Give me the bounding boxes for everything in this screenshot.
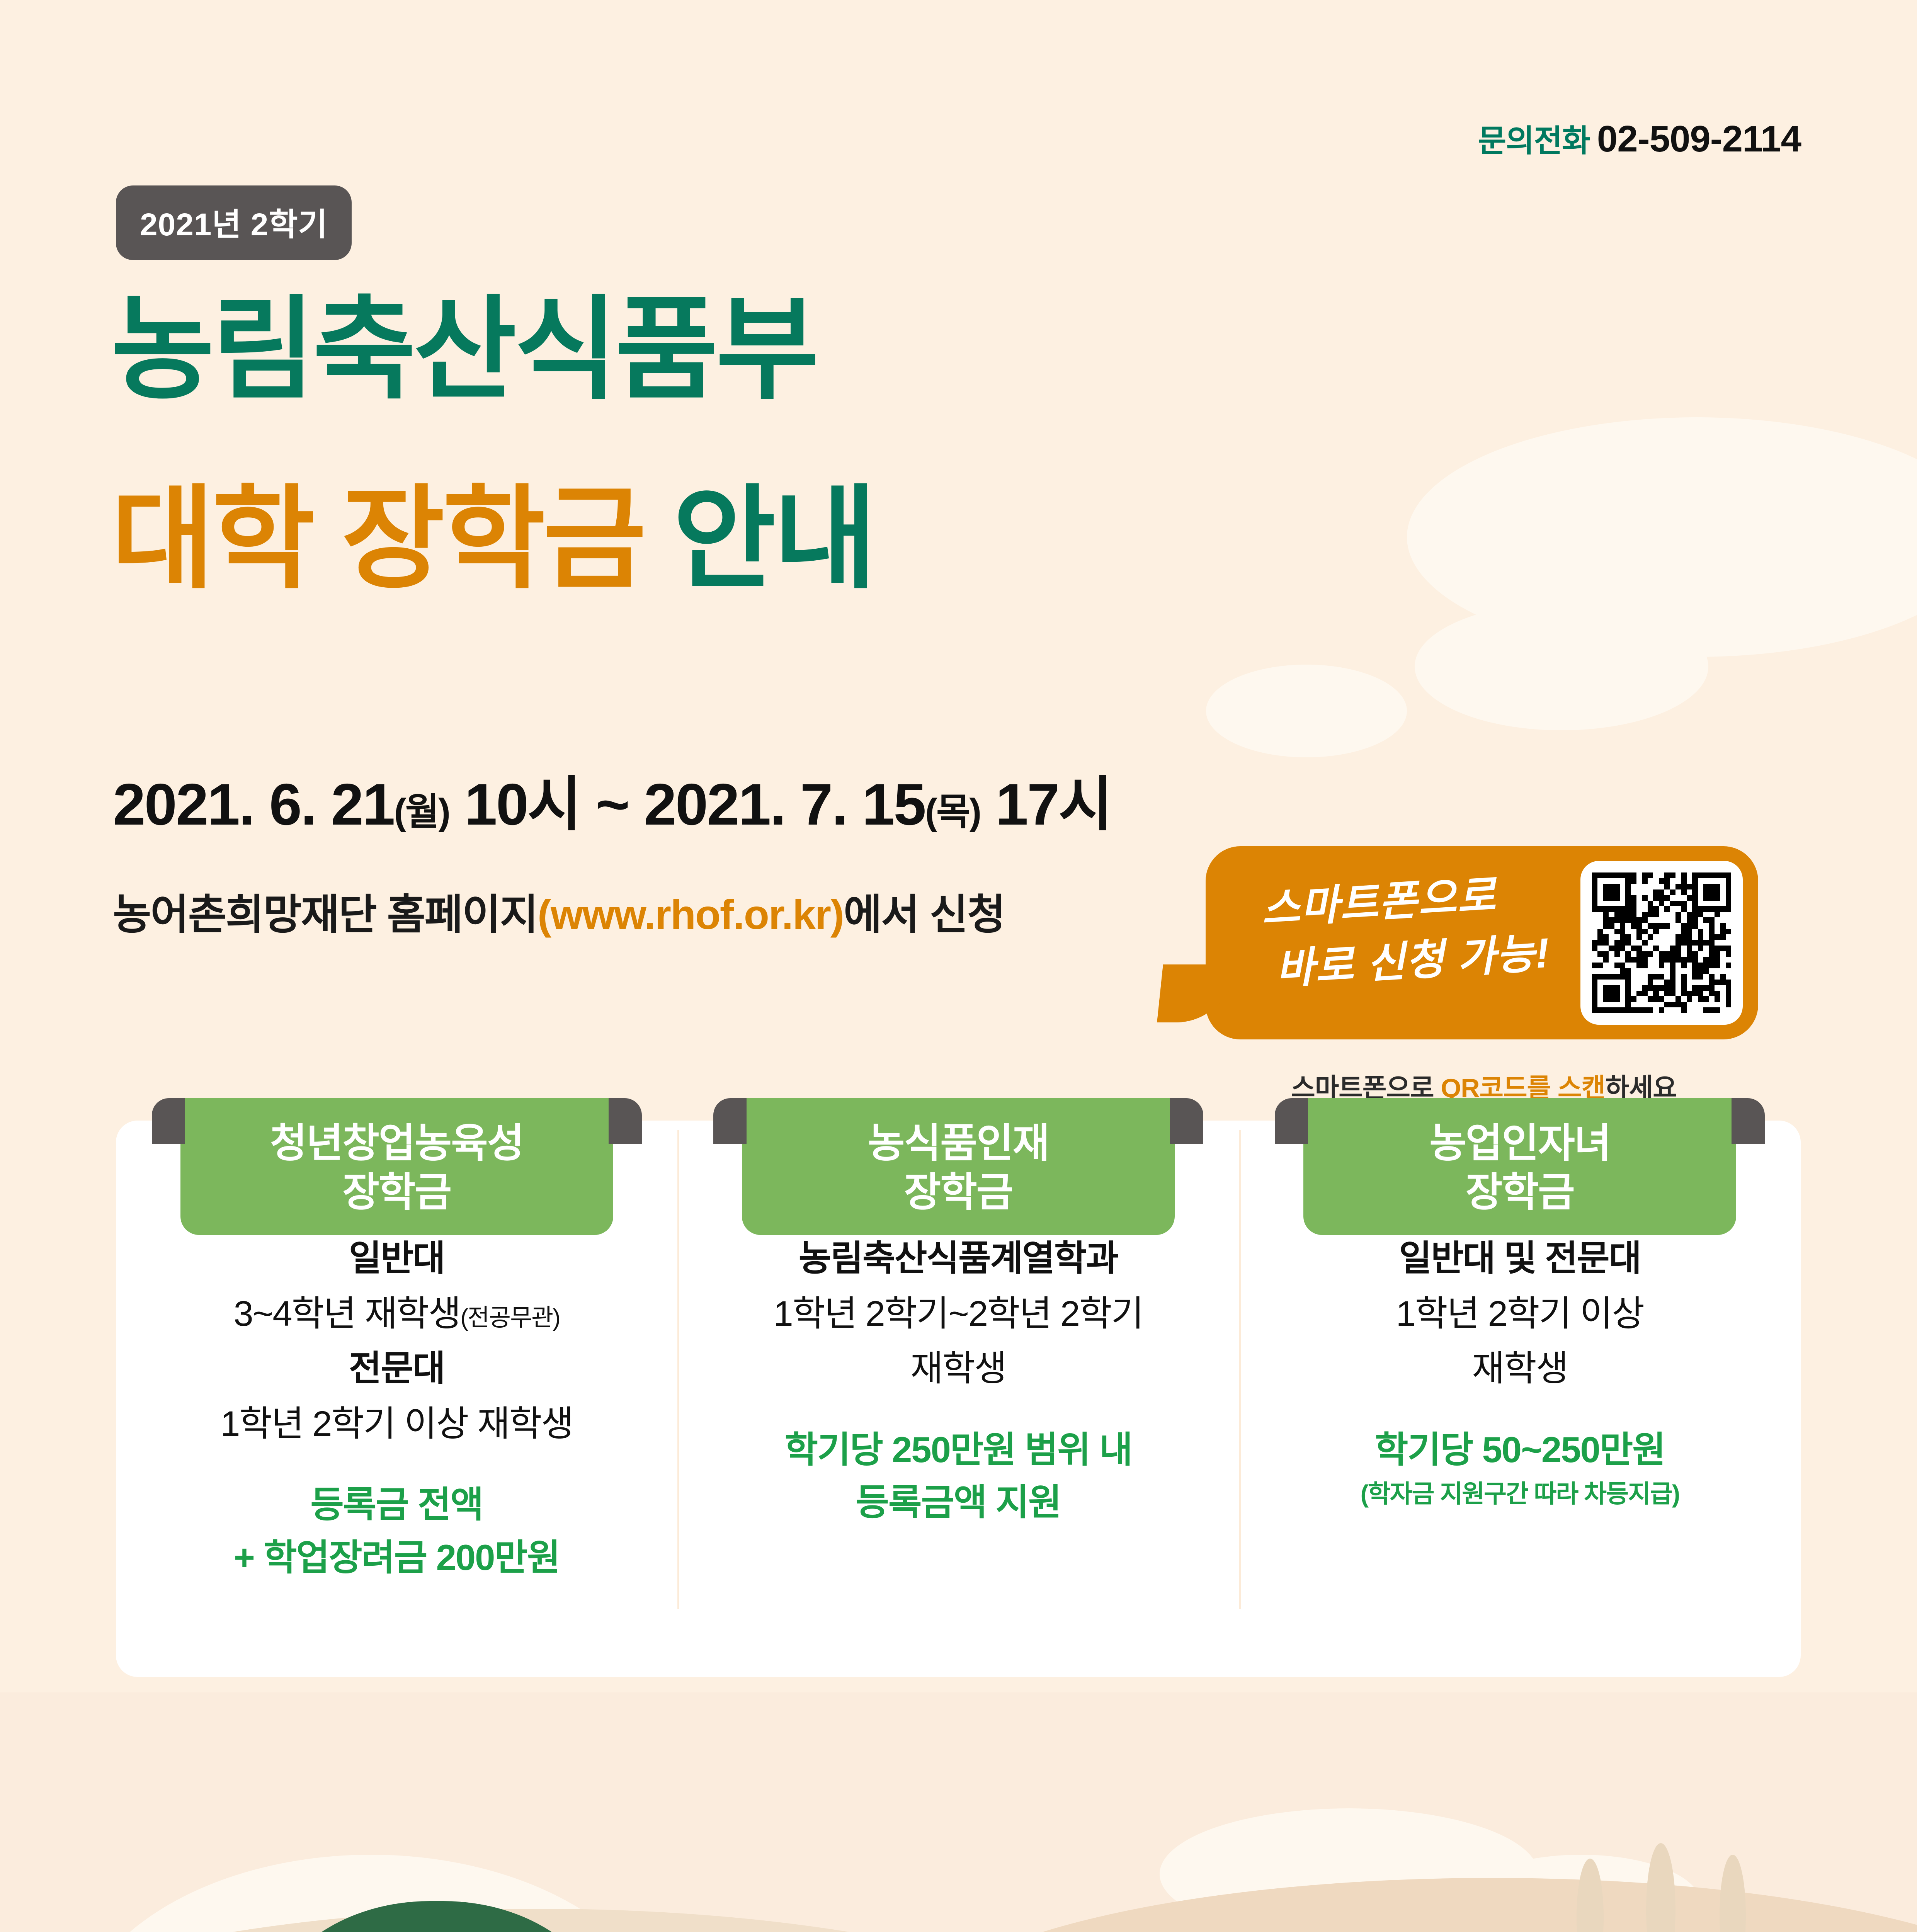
- qr-cell: [1715, 878, 1720, 884]
- qr-cell: [1681, 934, 1686, 940]
- qr-cell: [1653, 957, 1658, 963]
- qr-cell: [1675, 996, 1681, 1002]
- qr-cell: [1726, 946, 1731, 951]
- qr-cell: [1675, 901, 1681, 906]
- qr-cell: [1715, 895, 1720, 901]
- qr-cell: [1687, 1002, 1692, 1008]
- scholarship-card-panel: 청년창업농육성장학금일반대3~4학년 재학생(전공무관)전문대1학년 2학기 이…: [116, 1121, 1801, 1677]
- qr-cell: [1592, 889, 1597, 895]
- qr-cell: [1631, 996, 1636, 1002]
- qr-cell: [1625, 884, 1631, 889]
- qr-cell: [1670, 996, 1675, 1002]
- qr-cell: [1681, 957, 1686, 963]
- qr-cell: [1625, 872, 1631, 878]
- qr-cell: [1720, 980, 1725, 985]
- qr-cell: [1692, 940, 1698, 946]
- qr-cell: [1692, 901, 1698, 906]
- qr-cell: [1659, 929, 1664, 935]
- qr-cell: [1631, 940, 1636, 946]
- qr-cell: [1636, 951, 1642, 957]
- qr-cell: [1636, 974, 1642, 980]
- page-title-line1: 농림축산식품부: [111, 294, 817, 406]
- qr-cell: [1609, 934, 1614, 940]
- qr-cell: [1715, 923, 1720, 929]
- qr-cell: [1592, 951, 1597, 957]
- qr-cell: [1597, 940, 1603, 946]
- scholarship-amount: 학기당 50~250만원(학자금 지원구간 따라 차등지급): [1239, 1423, 1801, 1512]
- qr-cell: [1631, 884, 1636, 889]
- qr-cell: [1614, 974, 1620, 980]
- qr-cell: [1715, 996, 1720, 1002]
- qr-cell: [1670, 980, 1675, 985]
- qr-cell: [1614, 946, 1620, 951]
- site-url[interactable]: (www.rhof.or.kr): [538, 891, 844, 938]
- qr-cell: [1653, 951, 1658, 957]
- qr-cell: [1603, 957, 1609, 963]
- qr-cell: [1687, 929, 1692, 935]
- qr-cell: [1687, 951, 1692, 957]
- qr-cell: [1631, 901, 1636, 906]
- qr-cell: [1715, 991, 1720, 997]
- qr-cell: [1620, 917, 1625, 923]
- qr-cell: [1625, 946, 1631, 951]
- qr-cell: [1659, 889, 1664, 895]
- qr-cell: [1709, 872, 1714, 878]
- ribbon-tab-right: [1732, 1098, 1765, 1144]
- qr-cell: [1620, 985, 1625, 991]
- qr-cell: [1625, 912, 1631, 918]
- qr-cell: [1642, 985, 1648, 991]
- qr-cell: [1648, 957, 1653, 963]
- cloud-decoration: [1206, 665, 1407, 757]
- qr-cell: [1642, 946, 1648, 951]
- qr-cell: [1664, 895, 1670, 901]
- qr-cell: [1642, 951, 1648, 957]
- qr-cell: [1653, 974, 1658, 980]
- qr-cell: [1614, 1002, 1620, 1008]
- qr-cell: [1726, 884, 1731, 889]
- qr-cell: [1603, 951, 1609, 957]
- qr-cell: [1720, 991, 1725, 997]
- qr-cell: [1726, 951, 1731, 957]
- qr-cell: [1648, 884, 1653, 889]
- qr-cell: [1698, 980, 1703, 985]
- qr-cell: [1603, 872, 1609, 878]
- amount-line1: 학기당 50~250만원: [1239, 1423, 1801, 1476]
- qr-cell: [1648, 980, 1653, 985]
- qr-cell: [1698, 991, 1703, 997]
- eligibility-text: 농림축산식품계열학과: [799, 1239, 1118, 1278]
- qr-cell: [1720, 923, 1725, 929]
- qr-cell: [1703, 985, 1709, 991]
- qr-cell: [1597, 884, 1603, 889]
- qr-cell: [1715, 906, 1720, 912]
- qr-cell: [1659, 895, 1664, 901]
- qr-cell: [1603, 901, 1609, 906]
- qr-cell: [1698, 996, 1703, 1002]
- qr-cell: [1648, 878, 1653, 884]
- qr-cell: [1592, 901, 1597, 906]
- qr-cell: [1597, 1002, 1603, 1008]
- qr-cell: [1631, 895, 1636, 901]
- qr-cell: [1709, 934, 1714, 940]
- qr-cell: [1715, 917, 1720, 923]
- qr-cell: [1648, 872, 1653, 878]
- qr-cell: [1653, 872, 1658, 878]
- qr-cell: [1726, 974, 1731, 980]
- qr-cell: [1681, 878, 1686, 884]
- qr-cell: [1659, 963, 1664, 968]
- qr-cell: [1592, 884, 1597, 889]
- qr-cell: [1592, 934, 1597, 940]
- qr-cell: [1659, 1007, 1664, 1013]
- qr-cell: [1720, 957, 1725, 963]
- qr-cell: [1653, 901, 1658, 906]
- qr-cell: [1664, 889, 1670, 895]
- qr-cell: [1636, 991, 1642, 997]
- qr-cell: [1659, 957, 1664, 963]
- qr-cell: [1597, 895, 1603, 901]
- qr-cell: [1670, 889, 1675, 895]
- qr-cell: [1703, 1002, 1709, 1008]
- qr-cell: [1670, 917, 1675, 923]
- qr-cell: [1603, 946, 1609, 951]
- qr-cell: [1709, 957, 1714, 963]
- ribbon-tab-right: [609, 1098, 642, 1144]
- qr-cell: [1592, 980, 1597, 985]
- qr-cell: [1620, 957, 1625, 963]
- qr-cell: [1597, 985, 1603, 991]
- qr-cell: [1715, 934, 1720, 940]
- qr-cell: [1692, 889, 1698, 895]
- qr-cell: [1642, 934, 1648, 940]
- qr-cell: [1664, 980, 1670, 985]
- qr-cell: [1720, 940, 1725, 946]
- qr-cell: [1597, 889, 1603, 895]
- qr-cell: [1659, 901, 1664, 906]
- qr-cell: [1659, 968, 1664, 974]
- qr-cell: [1709, 1007, 1714, 1013]
- qr-cell: [1715, 985, 1720, 991]
- qr-cell: [1692, 878, 1698, 884]
- eligibility-line: 일반대: [116, 1231, 677, 1286]
- scholarship-title-ribbon: 농업인자녀장학금: [1303, 1098, 1736, 1235]
- qr-cell: [1636, 878, 1642, 884]
- qr-cell: [1675, 974, 1681, 980]
- qr-cell: [1681, 884, 1686, 889]
- qr-cell: [1620, 895, 1625, 901]
- qr-cell: [1681, 974, 1686, 980]
- qr-cell: [1675, 940, 1681, 946]
- qr-cell: [1620, 929, 1625, 935]
- qr-cell: [1720, 968, 1725, 974]
- application-period: 2021. 6. 21(월) 10시 ~ 2021. 7. 15(목) 17시: [113, 757, 1111, 842]
- qr-cell: [1715, 872, 1720, 878]
- qr-cell: [1636, 934, 1642, 940]
- qr-cell: [1720, 884, 1725, 889]
- qr-cell: [1687, 946, 1692, 951]
- qr-cell: [1603, 991, 1609, 997]
- qr-cell: [1692, 985, 1698, 991]
- qr-cell: [1631, 906, 1636, 912]
- scholarship-title-line1: 농식품인재: [742, 1119, 1175, 1168]
- qr-cell: [1726, 963, 1731, 968]
- qr-cell: [1675, 957, 1681, 963]
- eligibility-text: 3~4학년 재학생: [234, 1294, 461, 1333]
- qr-cell: [1636, 963, 1642, 968]
- qr-cell: [1698, 901, 1703, 906]
- qr-cell: [1609, 968, 1614, 974]
- qr-cell: [1720, 974, 1725, 980]
- qr-cell: [1603, 895, 1609, 901]
- qr-cell: [1609, 923, 1614, 929]
- scholarship-columns: 청년창업농육성장학금일반대3~4학년 재학생(전공무관)전문대1학년 2학기 이…: [116, 1121, 1801, 1677]
- qr-cell: [1703, 968, 1709, 974]
- qr-cell: [1614, 929, 1620, 935]
- qr-cell: [1703, 912, 1709, 918]
- qr-cell: [1653, 946, 1658, 951]
- qr-cell: [1620, 906, 1625, 912]
- qr-cell: [1703, 974, 1709, 980]
- qr-cell: [1692, 946, 1698, 951]
- qr-cell: [1698, 906, 1703, 912]
- qr-cell: [1597, 980, 1603, 985]
- qr-cell: [1726, 878, 1731, 884]
- qr-cell: [1648, 906, 1653, 912]
- qr-cell: [1681, 912, 1686, 918]
- qr-cell: [1670, 906, 1675, 912]
- qr-cell: [1620, 946, 1625, 951]
- eligibility-text: 전문대: [349, 1349, 445, 1388]
- qr-cell: [1603, 878, 1609, 884]
- qr-cell: [1620, 934, 1625, 940]
- qr-cell: [1636, 906, 1642, 912]
- qr-cell: [1715, 884, 1720, 889]
- qr-cell: [1675, 895, 1681, 901]
- page-title-line2: 대학 장학금 안내: [111, 483, 874, 595]
- qr-code[interactable]: [1580, 861, 1743, 1025]
- qr-cell: [1653, 923, 1658, 929]
- qr-cell: [1609, 1007, 1614, 1013]
- qr-cell: [1703, 940, 1709, 946]
- qr-cell: [1692, 974, 1698, 980]
- qr-cell: [1703, 946, 1709, 951]
- qr-cell: [1681, 985, 1686, 991]
- qr-cell: [1726, 957, 1731, 963]
- qr-cell: [1609, 940, 1614, 946]
- qr-cell: [1698, 1007, 1703, 1013]
- qr-cell: [1659, 923, 1664, 929]
- qr-cell: [1726, 895, 1731, 901]
- poster-root: 문의전화02-509-2114 2021년 2학기 농림축산식품부 대학 장학금…: [0, 0, 1917, 1932]
- qr-cell: [1664, 917, 1670, 923]
- qr-cell: [1692, 895, 1698, 901]
- qr-cell: [1692, 923, 1698, 929]
- qr-cell: [1625, 901, 1631, 906]
- qr-cell: [1692, 912, 1698, 918]
- qr-cell: [1636, 912, 1642, 918]
- qr-cell: [1659, 940, 1664, 946]
- qr-cell: [1687, 963, 1692, 968]
- qr-cell: [1648, 929, 1653, 935]
- qr-cell: [1726, 917, 1731, 923]
- qr-cell: [1648, 1007, 1653, 1013]
- qr-cell: [1709, 906, 1714, 912]
- qr-cell: [1603, 1002, 1609, 1008]
- qr-cell: [1609, 980, 1614, 985]
- qr-cell: [1631, 934, 1636, 940]
- qr-cell: [1687, 957, 1692, 963]
- qr-cell: [1625, 991, 1631, 997]
- qr-cell: [1636, 917, 1642, 923]
- qr-cell: [1625, 951, 1631, 957]
- qr-cell: [1631, 872, 1636, 878]
- qr-cell: [1664, 901, 1670, 906]
- qr-cell: [1603, 974, 1609, 980]
- qr-cell: [1687, 991, 1692, 997]
- qr-cell: [1609, 974, 1614, 980]
- qr-cell: [1675, 917, 1681, 923]
- qr-cell: [1698, 968, 1703, 974]
- qr-cell: [1720, 1002, 1725, 1008]
- qr-cell: [1614, 1007, 1620, 1013]
- qr-cell: [1653, 963, 1658, 968]
- qr-cell: [1675, 912, 1681, 918]
- qr-cell: [1726, 996, 1731, 1002]
- qr-cell: [1692, 968, 1698, 974]
- qr-cell: [1670, 940, 1675, 946]
- qr-cell: [1664, 884, 1670, 889]
- qr-cell: [1698, 895, 1703, 901]
- qr-cell: [1614, 923, 1620, 929]
- qr-cell: [1664, 878, 1670, 884]
- qr-cell: [1709, 940, 1714, 946]
- amount-line1: 등록금 전액: [116, 1478, 677, 1531]
- qr-cell: [1659, 917, 1664, 923]
- qr-cell: [1609, 878, 1614, 884]
- qr-cell: [1675, 878, 1681, 884]
- qr-cell: [1715, 946, 1720, 951]
- qr-cell: [1636, 957, 1642, 963]
- qr-cell: [1687, 906, 1692, 912]
- qr-cell: [1625, 895, 1631, 901]
- qr-cell: [1670, 1007, 1675, 1013]
- qr-cell: [1709, 951, 1714, 957]
- qr-cell: [1614, 996, 1620, 1002]
- qr-speech-bubble: 스마트폰으로 바로 신청 가능!: [1206, 846, 1758, 1039]
- qr-cell: [1609, 991, 1614, 997]
- qr-cell: [1603, 912, 1609, 918]
- qr-cell: [1603, 985, 1609, 991]
- qr-cell: [1692, 1002, 1698, 1008]
- eligibility-line: 1학년 2학기~2학년 2학기: [677, 1286, 1239, 1342]
- qr-cell: [1625, 985, 1631, 991]
- amount-line2: + 학업장려금 200만원: [116, 1531, 677, 1584]
- qr-cell: [1670, 951, 1675, 957]
- qr-cell: [1603, 934, 1609, 940]
- qr-cell: [1631, 963, 1636, 968]
- qr-cell: [1631, 917, 1636, 923]
- qr-cell: [1614, 951, 1620, 957]
- qr-cell: [1653, 917, 1658, 923]
- qr-cell: [1715, 929, 1720, 935]
- qr-cell: [1592, 996, 1597, 1002]
- qr-cell: [1597, 923, 1603, 929]
- qr-cell: [1664, 946, 1670, 951]
- qr-cell: [1681, 923, 1686, 929]
- qr-code-matrix: [1592, 872, 1731, 1013]
- scholarship-eligibility: 일반대 및 전문대1학년 2학기 이상재학생: [1239, 1231, 1801, 1396]
- qr-cell: [1653, 1007, 1658, 1013]
- qr-cell: [1670, 968, 1675, 974]
- qr-cell: [1631, 929, 1636, 935]
- qr-cell: [1620, 872, 1625, 878]
- qr-cell: [1625, 878, 1631, 884]
- qr-cell: [1687, 940, 1692, 946]
- qr-cell: [1698, 985, 1703, 991]
- qr-cell: [1670, 901, 1675, 906]
- qr-cell: [1625, 1002, 1631, 1008]
- qr-cell: [1659, 951, 1664, 957]
- qr-cell: [1709, 895, 1714, 901]
- qr-cell: [1687, 889, 1692, 895]
- qr-cell: [1653, 1002, 1658, 1008]
- qr-cell: [1687, 872, 1692, 878]
- qr-cell: [1715, 901, 1720, 906]
- qr-cell: [1625, 934, 1631, 940]
- qr-cell: [1620, 980, 1625, 985]
- qr-cell: [1664, 929, 1670, 935]
- qr-cell: [1703, 901, 1709, 906]
- qr-cell: [1642, 923, 1648, 929]
- qr-cell: [1709, 929, 1714, 935]
- qr-cell: [1648, 934, 1653, 940]
- qr-cell: [1653, 991, 1658, 997]
- qr-cell: [1720, 878, 1725, 884]
- qr-cell: [1664, 906, 1670, 912]
- qr-cell: [1653, 934, 1658, 940]
- qr-cell: [1670, 974, 1675, 980]
- qr-cell: [1670, 991, 1675, 997]
- qr-cell: [1659, 878, 1664, 884]
- qr-cell: [1636, 929, 1642, 935]
- qr-cell: [1642, 906, 1648, 912]
- qr-cell: [1603, 980, 1609, 985]
- qr-cell: [1603, 968, 1609, 974]
- qr-cell: [1703, 884, 1709, 889]
- qr-cell: [1692, 917, 1698, 923]
- qr-cell: [1698, 974, 1703, 980]
- qr-cell: [1625, 889, 1631, 895]
- qr-cell: [1614, 985, 1620, 991]
- qr-cell: [1703, 889, 1709, 895]
- qr-cell: [1709, 985, 1714, 991]
- qr-cell: [1614, 968, 1620, 974]
- qr-cell: [1603, 940, 1609, 946]
- qr-cell: [1659, 1002, 1664, 1008]
- qr-cell: [1597, 878, 1603, 884]
- qr-cell: [1703, 1007, 1709, 1013]
- qr-cell: [1653, 968, 1658, 974]
- contact-phone: 문의전화02-509-2114: [1478, 116, 1801, 161]
- qr-cell: [1715, 957, 1720, 963]
- scholarship-title-ribbon: 청년창업농육성장학금: [180, 1098, 613, 1235]
- qr-cell: [1620, 889, 1625, 895]
- qr-cell: [1681, 901, 1686, 906]
- qr-cell: [1664, 951, 1670, 957]
- qr-cell: [1603, 923, 1609, 929]
- qr-cell: [1659, 934, 1664, 940]
